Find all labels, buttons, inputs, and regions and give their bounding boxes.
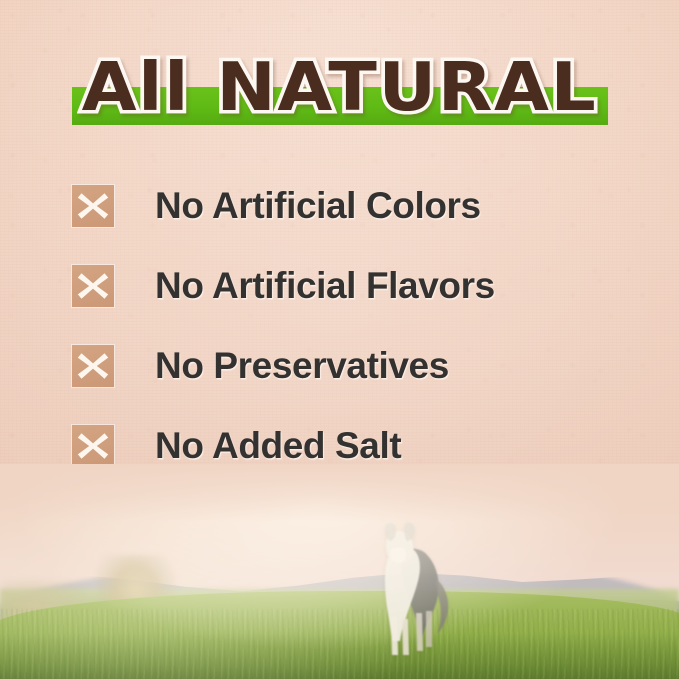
list-item-label: No Artificial Flavors [155,258,495,314]
list-item-label: No Artificial Colors [155,178,481,234]
list-item: No Artificial Colors [72,178,632,258]
list-item: No Preservatives [72,338,632,418]
headline-block: All NATURAL [0,48,679,132]
list-item-label: No Preservatives [155,338,449,394]
claims-list: No Artificial Colors No Artificial Flavo… [72,178,632,498]
dog-silhouette [358,513,462,665]
page-title: All NATURAL [0,48,679,126]
landscape-photo [0,464,679,679]
grass-texture [0,609,679,679]
all-natural-product-claims-poster: All NATURAL No Artificial Colors No Arti… [0,0,679,679]
x-mark-icon [72,185,114,227]
list-item: No Artificial Flavors [72,258,632,338]
x-mark-icon [72,425,114,467]
x-mark-icon [72,345,114,387]
x-mark-icon [72,265,114,307]
